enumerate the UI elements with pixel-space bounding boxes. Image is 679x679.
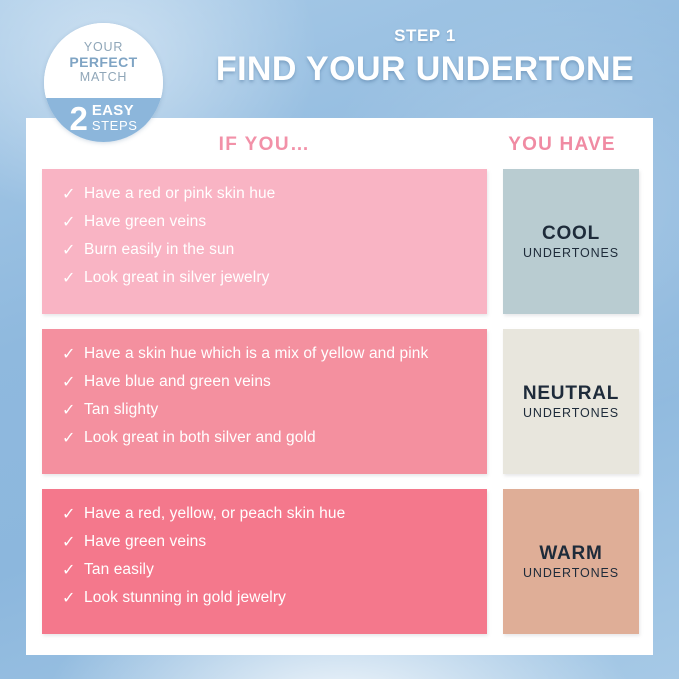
check-icon: ✓ <box>62 533 84 553</box>
criteria-list: ✓Have a red, yellow, or peach skin hue✓H… <box>42 489 487 634</box>
check-icon: ✓ <box>62 373 84 393</box>
swatch-subtitle: UNDERTONES <box>523 565 619 581</box>
check-icon: ✓ <box>62 269 84 289</box>
badge-line-easy: EASY <box>92 103 134 118</box>
perfect-match-badge: YOUR PERFECT MATCH 2 EASY STEPS <box>44 23 163 142</box>
check-icon: ✓ <box>62 505 84 525</box>
content-panel: IF YOU… YOU HAVE ✓Have a red or pink ski… <box>26 118 653 655</box>
list-item: ✓Have a red, yellow, or peach skin hue <box>62 503 471 525</box>
list-item-label: Tan easily <box>84 559 154 580</box>
badge-line-match: MATCH <box>80 70 128 84</box>
list-item: ✓Burn easily in the sun <box>62 239 471 261</box>
undertone-row: ✓Have a red, yellow, or peach skin hue✓H… <box>42 489 637 634</box>
badge-steps-text: EASY STEPS <box>92 103 138 133</box>
step-label: STEP 1 <box>190 26 660 46</box>
check-icon: ✓ <box>62 213 84 233</box>
badge-line-your: YOUR <box>84 40 123 54</box>
page-title: FIND YOUR UNDERTONE <box>190 50 660 89</box>
list-item-label: Look great in both silver and gold <box>84 427 316 448</box>
list-item: ✓Have a red or pink skin hue <box>62 183 471 205</box>
criteria-list: ✓Have a skin hue which is a mix of yello… <box>42 329 487 474</box>
list-item-label: Have green veins <box>84 531 206 552</box>
list-item-label: Have a red or pink skin hue <box>84 183 275 204</box>
list-item-label: Burn easily in the sun <box>84 239 234 260</box>
list-item-label: Have blue and green veins <box>84 371 271 392</box>
check-icon: ✓ <box>62 241 84 261</box>
list-item-label: Tan slighty <box>84 399 158 420</box>
list-item: ✓Have green veins <box>62 211 471 233</box>
check-icon: ✓ <box>62 561 84 581</box>
list-item: ✓Look great in silver jewelry <box>62 267 471 289</box>
badge-line-steps: STEPS <box>92 118 138 133</box>
badge-top-half: YOUR PERFECT MATCH <box>44 23 163 98</box>
list-item: ✓Have green veins <box>62 531 471 553</box>
column-header-you-have: YOU HAVE <box>487 134 637 156</box>
list-item-label: Look great in silver jewelry <box>84 267 269 288</box>
swatch-subtitle: UNDERTONES <box>523 245 619 261</box>
badge-bottom-half: 2 EASY STEPS <box>44 98 163 142</box>
list-item: ✓Have blue and green veins <box>62 371 471 393</box>
swatch-title: COOL <box>542 223 600 245</box>
list-item: ✓Look great in both silver and gold <box>62 427 471 449</box>
check-icon: ✓ <box>62 429 84 449</box>
undertone-row: ✓Have a red or pink skin hue✓Have green … <box>42 169 637 314</box>
undertone-swatch: NEUTRALUNDERTONES <box>503 329 639 474</box>
badge-step-number: 2 <box>70 102 88 135</box>
list-item: ✓Tan slighty <box>62 399 471 421</box>
check-icon: ✓ <box>62 589 84 609</box>
list-item-label: Have a red, yellow, or peach skin hue <box>84 503 345 524</box>
undertone-swatch: COOLUNDERTONES <box>503 169 639 314</box>
undertone-infographic: STEP 1 FIND YOUR UNDERTONE YOUR PERFECT … <box>0 0 679 679</box>
header: STEP 1 FIND YOUR UNDERTONE <box>190 26 660 89</box>
list-item: ✓Tan easily <box>62 559 471 581</box>
list-item-label: Look stunning in gold jewelry <box>84 587 286 608</box>
list-item: ✓Look stunning in gold jewelry <box>62 587 471 609</box>
undertone-row: ✓Have a skin hue which is a mix of yello… <box>42 329 637 474</box>
list-item-label: Have green veins <box>84 211 206 232</box>
list-item-label: Have a skin hue which is a mix of yellow… <box>84 343 428 364</box>
swatch-subtitle: UNDERTONES <box>523 405 619 421</box>
criteria-list: ✓Have a red or pink skin hue✓Have green … <box>42 169 487 314</box>
swatch-title: WARM <box>539 543 602 565</box>
badge-line-perfect: PERFECT <box>69 54 137 70</box>
check-icon: ✓ <box>62 401 84 421</box>
check-icon: ✓ <box>62 185 84 205</box>
swatch-title: NEUTRAL <box>523 383 619 405</box>
list-item: ✓Have a skin hue which is a mix of yello… <box>62 343 471 365</box>
undertone-swatch: WARMUNDERTONES <box>503 489 639 634</box>
check-icon: ✓ <box>62 345 84 365</box>
undertone-rows: ✓Have a red or pink skin hue✓Have green … <box>42 169 637 649</box>
